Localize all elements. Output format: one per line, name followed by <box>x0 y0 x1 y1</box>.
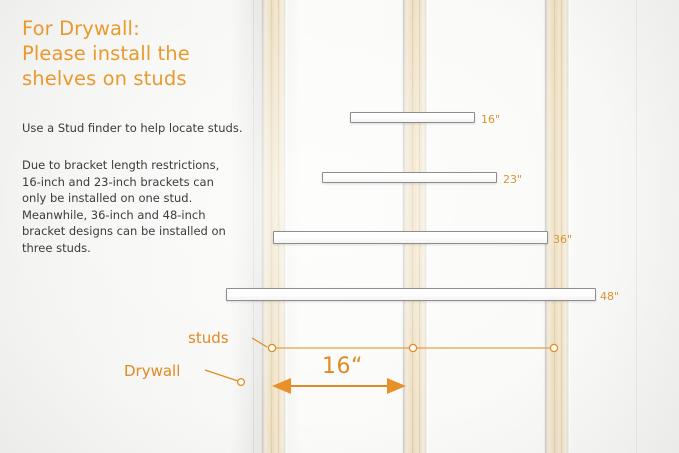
shelf-bar-23 <box>322 172 497 183</box>
stud-grain-line <box>561 0 562 453</box>
shelf-label-36: 36" <box>553 234 572 245</box>
drywall-seam-right <box>636 0 637 453</box>
studs-callout-label: studs <box>188 331 229 346</box>
stud-right <box>545 0 570 453</box>
drywall-leader-line <box>205 370 238 381</box>
body-paragraph-1: Use a Stud finder to help locate studs. <box>22 120 272 137</box>
drywall-marker <box>238 379 245 386</box>
body-paragraph-2: Due to bracket length restrictions, 16-i… <box>22 157 274 257</box>
stud-grain-line <box>412 0 413 453</box>
dimension-label: 16“ <box>322 356 363 378</box>
stud-grain-line <box>419 0 420 453</box>
shelf-label-16: 16" <box>481 114 500 125</box>
shelf-label-23: 23" <box>503 174 522 185</box>
drywall-shelf-instruction-graphic: For Drywall: Please install the shelves … <box>0 0 679 453</box>
shelf-bar-16 <box>350 112 475 123</box>
page-title: For Drywall: Please install the shelves … <box>22 16 282 91</box>
drywall-callout-label: Drywall <box>124 364 180 379</box>
shelf-bar-48 <box>226 288 596 301</box>
shelf-bar-36 <box>273 231 548 244</box>
stud-center <box>403 0 428 453</box>
shelf-label-48: 48" <box>600 291 619 302</box>
stud-grain-line <box>554 0 555 453</box>
